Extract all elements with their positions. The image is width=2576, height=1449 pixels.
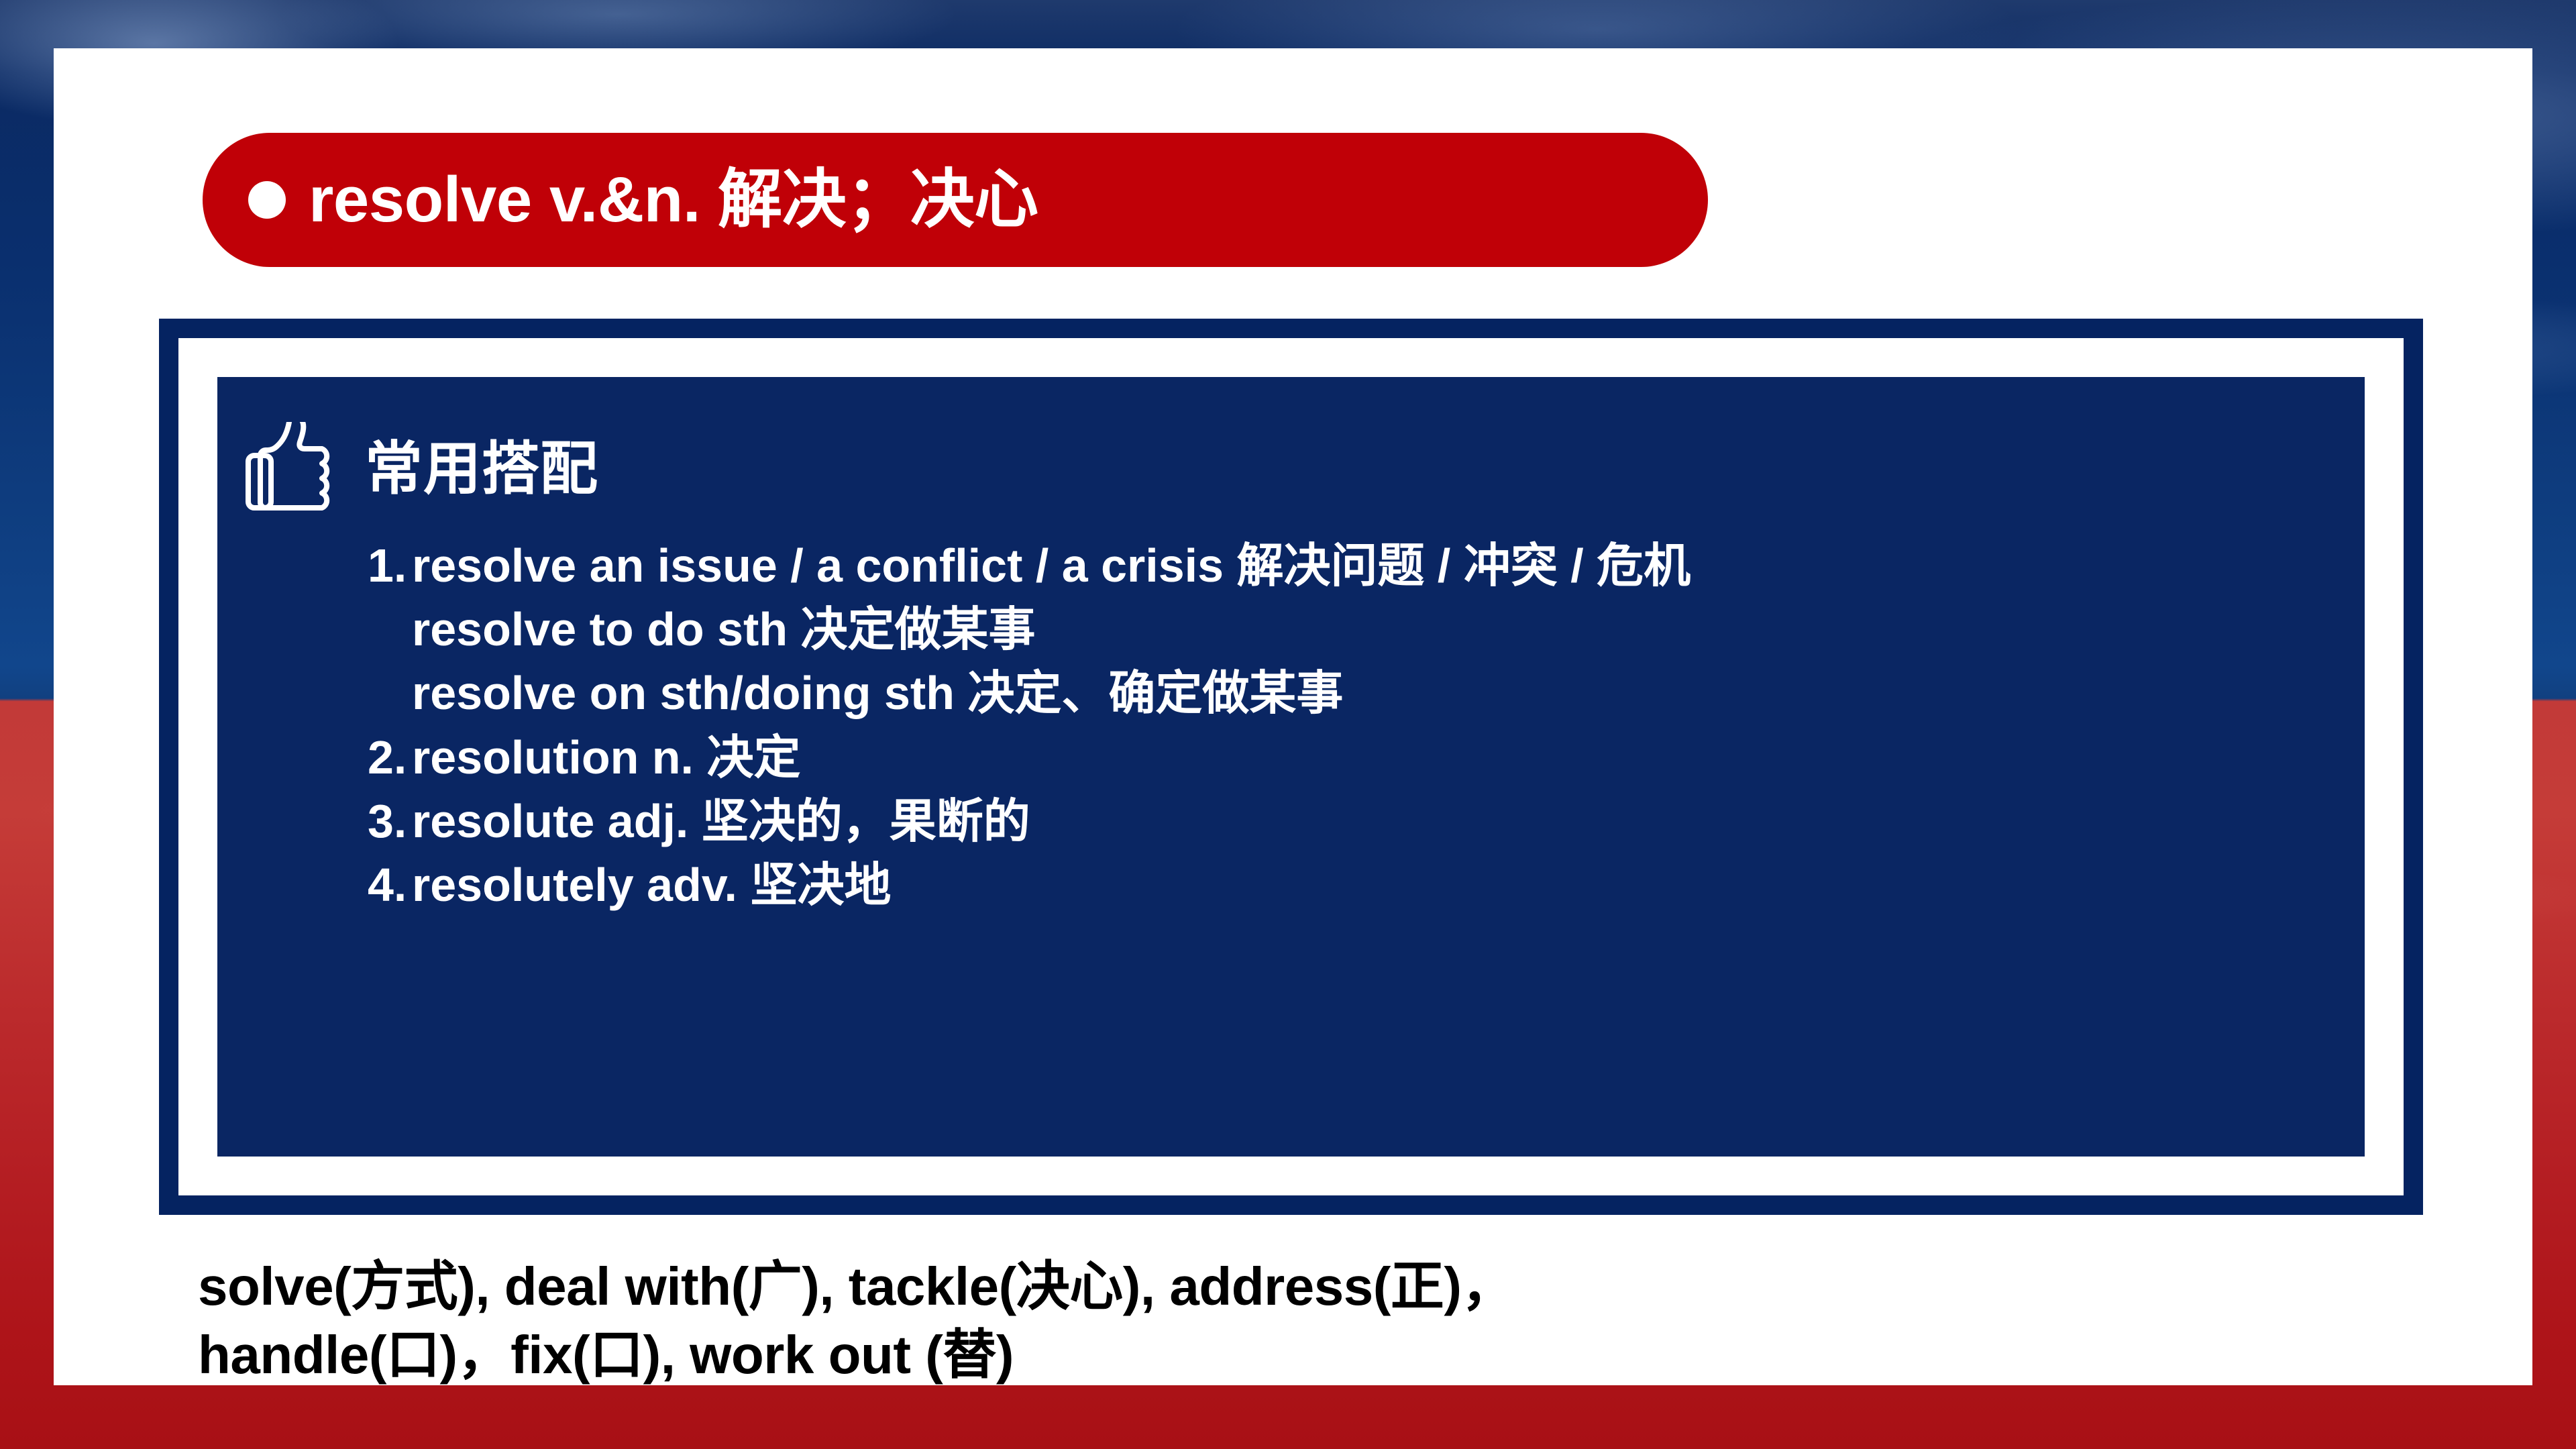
list-item: 2. resolution n. 决定 [368, 726, 2365, 790]
collocations-white-gap: 常用搭配 1. resolve an issue / a conflict / … [178, 338, 2404, 1195]
list-item-line: resolve on sth/doing sth 决定、确定做某事 [412, 661, 2365, 725]
collocations-outer-frame: 常用搭配 1. resolve an issue / a conflict / … [159, 319, 2423, 1215]
bullet-circle-icon [248, 181, 286, 219]
list-item-number: 4. [368, 853, 412, 917]
list-item-number: 1. [368, 534, 412, 726]
list-item-number: 3. [368, 790, 412, 853]
synonyms-line: solve(方式), deal with(广), tackle(决心), add… [198, 1252, 2479, 1321]
list-item-line: resolution n. 决定 [412, 726, 2365, 790]
slide-content-card: resolve v.&n. 解决；决心 常用搭配 1. [54, 48, 2532, 1385]
page-title: resolve v.&n. 解决；决心 [309, 168, 1038, 232]
thumbs-up-icon [236, 419, 350, 519]
list-item-number: 2. [368, 726, 412, 790]
list-item-lines: resolutely adv. 坚决地 [412, 853, 2365, 917]
list-item-lines: resolution n. 决定 [412, 726, 2365, 790]
list-item: 1. resolve an issue / a conflict / a cri… [368, 534, 2365, 726]
list-item-line: resolve to do sth 决定做某事 [412, 598, 2365, 661]
synonyms-block: solve(方式), deal with(广), tackle(决心), add… [198, 1252, 2479, 1390]
list-item-line: resolute adj. 坚决的，果断的 [412, 790, 2365, 853]
collocations-list: 1. resolve an issue / a conflict / a cri… [217, 519, 2365, 917]
word-title-banner: resolve v.&n. 解决；决心 [203, 133, 1708, 267]
list-item-line: resolve an issue / a conflict / a crisis… [412, 534, 2365, 598]
synonyms-line: handle(口)，fix(口), work out (替) [198, 1321, 2479, 1389]
collocations-header: 常用搭配 [217, 419, 2365, 519]
list-item-line: resolutely adv. 坚决地 [412, 853, 2365, 917]
list-item-lines: resolute adj. 坚决的，果断的 [412, 790, 2365, 853]
list-item-lines: resolve an issue / a conflict / a crisis… [412, 534, 2365, 726]
list-item: 4. resolutely adv. 坚决地 [368, 853, 2365, 917]
collocations-heading: 常用搭配 [365, 440, 598, 498]
list-item: 3. resolute adj. 坚决的，果断的 [368, 790, 2365, 853]
collocations-panel: 常用搭配 1. resolve an issue / a conflict / … [217, 377, 2365, 1157]
